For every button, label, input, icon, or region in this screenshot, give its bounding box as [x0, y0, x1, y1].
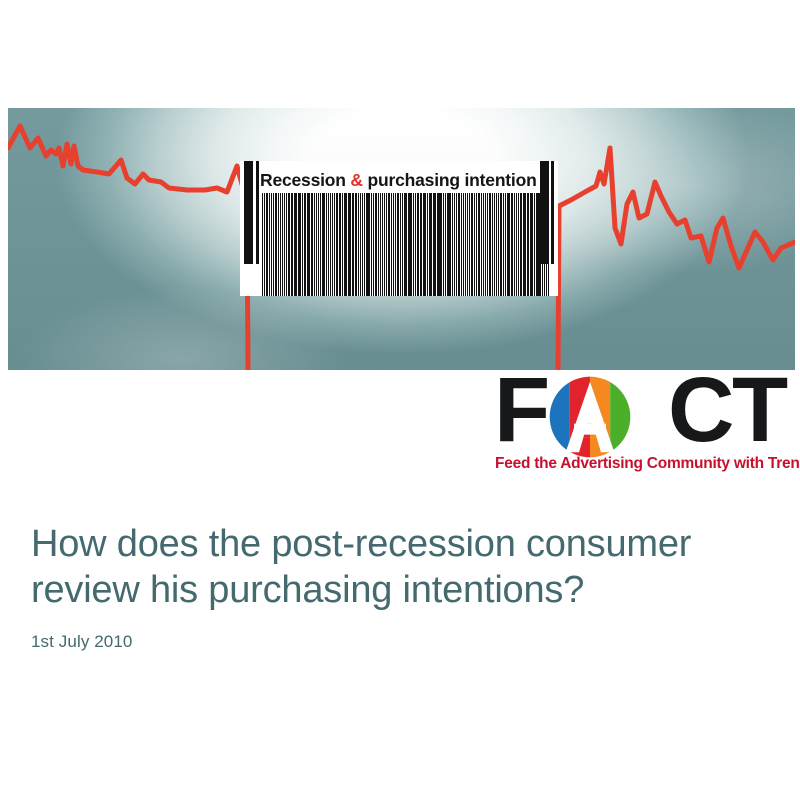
barcode-bar — [546, 193, 547, 296]
barcode-bar — [478, 193, 480, 296]
barcode-bar — [537, 193, 539, 296]
barcode-bar — [311, 193, 313, 296]
barcode-title-ampersand: & — [350, 170, 362, 190]
barcode-bar — [520, 193, 522, 296]
barcode-bar — [373, 193, 374, 296]
barcode-bar — [305, 193, 306, 296]
barcode-bar — [326, 193, 327, 296]
trend-line-right — [558, 148, 795, 370]
barcode-bar — [309, 193, 310, 296]
barcode-bar — [397, 193, 399, 296]
barcode-bar — [511, 193, 514, 296]
barcode-bar — [415, 193, 416, 296]
barcode-bar — [500, 193, 502, 296]
barcode-bar — [496, 193, 497, 296]
barcode-bar — [280, 193, 281, 296]
barcode-bar — [507, 193, 508, 296]
slide-canvas: Recession & purchasing intention F C T — [0, 0, 800, 800]
barcode-bar — [483, 193, 484, 296]
barcode-bar — [485, 193, 486, 296]
barcode-bar — [434, 193, 435, 296]
barcode-bar — [417, 193, 419, 296]
barcode-bar — [282, 193, 283, 296]
logo-a-segment-red — [570, 375, 590, 437]
barcode-bar — [386, 193, 387, 296]
barcode-bar — [288, 193, 290, 296]
barcode-bar — [402, 193, 403, 296]
barcode-bar — [498, 193, 499, 296]
barcode-bar — [408, 193, 409, 296]
title-block: How does the post-recession consumer rev… — [31, 521, 761, 653]
barcode-bar — [441, 193, 442, 296]
barcode-bar — [298, 193, 301, 296]
barcode-bar — [471, 193, 474, 296]
barcode-bar — [476, 193, 477, 296]
barcode-bar — [318, 193, 319, 296]
barcode-bar — [307, 193, 308, 296]
barcode-bar — [364, 193, 365, 296]
barcode-bar — [544, 193, 545, 296]
barcode-bar — [536, 193, 537, 296]
barcode-bar — [467, 193, 468, 296]
barcode-bar — [286, 193, 287, 296]
fact-logo: F C T — [492, 370, 795, 478]
barcode-bar — [433, 193, 434, 296]
barcode-bar — [530, 193, 533, 296]
page-title: How does the post-recession consumer rev… — [31, 521, 761, 613]
barcode-bar — [527, 193, 528, 296]
barcode-bar — [362, 193, 363, 296]
barcode-bar — [393, 193, 394, 296]
barcode-bar — [330, 193, 331, 296]
barcode-bar — [409, 193, 412, 296]
barcode-bar — [456, 193, 457, 296]
barcode-title-suffix: purchasing intention — [363, 170, 537, 190]
barcode-bar — [421, 193, 422, 296]
barcode-bar — [404, 193, 405, 296]
barcode-bar — [494, 193, 495, 296]
barcode-bar — [454, 193, 455, 296]
barcode-bar — [452, 193, 453, 296]
barcode-bar — [461, 193, 462, 296]
barcode-bar — [395, 193, 396, 296]
barcode-bar — [542, 193, 543, 296]
barcode-bar — [400, 193, 401, 296]
logo-letter-t: T — [732, 364, 786, 456]
barcode-bar — [292, 193, 293, 296]
barcode-bar — [481, 193, 482, 296]
barcode-bar — [516, 193, 517, 296]
barcode-bar — [443, 193, 444, 296]
barcode-bar — [487, 193, 488, 296]
barcode-bar — [296, 193, 297, 296]
barcode-bar — [508, 193, 509, 296]
page-title-line-2: review his purchasing intentions? — [31, 569, 584, 611]
barcode-bar — [316, 193, 317, 296]
barcode-bar — [273, 193, 274, 296]
barcode-bar — [420, 193, 421, 296]
barcode-bar — [340, 193, 341, 296]
barcode-bar — [314, 193, 315, 296]
barcode-bar — [352, 193, 353, 296]
barcode-bar — [355, 193, 357, 296]
logo-a-segment-orange — [590, 375, 610, 437]
barcode-bar — [489, 193, 492, 296]
barcode-bar — [358, 193, 359, 296]
logo-letter-a-graphic — [548, 375, 632, 459]
barcode-bar — [534, 193, 535, 296]
barcode-bar — [505, 193, 506, 296]
barcode-graphic: Recession & purchasing intention — [240, 161, 558, 296]
barcode-bar — [382, 193, 383, 296]
barcode-bar — [284, 193, 285, 296]
barcode-bar — [518, 193, 519, 296]
barcode-bar — [262, 193, 263, 296]
barcode-bar — [291, 193, 292, 296]
barcode-bar — [413, 193, 414, 296]
barcode-bar — [320, 193, 321, 296]
barcode-bar — [450, 193, 451, 296]
barcode-title-text: Recession & purchasing intention — [260, 166, 540, 194]
barcode-bar — [447, 193, 450, 296]
barcode-bar — [503, 193, 504, 296]
logo-a-segment-green — [610, 375, 632, 459]
barcode-bar — [339, 193, 340, 296]
barcode-bar — [405, 193, 406, 296]
slide-date: 1st July 2010 — [31, 631, 761, 653]
trend-line-left — [8, 126, 248, 370]
barcode-bar — [269, 193, 270, 296]
barcode-bar — [266, 193, 268, 296]
barcode-bar — [336, 193, 338, 296]
barcode-bar — [334, 193, 335, 296]
logo-letter-c: C — [668, 364, 732, 456]
barcode-bar — [369, 193, 370, 296]
barcode-bar — [332, 193, 333, 296]
barcode-bar — [375, 193, 377, 296]
barcode-bar — [344, 193, 347, 296]
barcode-bar — [425, 193, 426, 296]
barcode-bar — [465, 193, 466, 296]
barcode-bar — [445, 193, 446, 296]
barcode-bar — [371, 193, 372, 296]
barcode-bar — [523, 193, 524, 296]
barcode-bar — [514, 193, 515, 296]
barcode-bar — [474, 193, 475, 296]
barcode-bar — [437, 193, 438, 296]
barcode-bar — [322, 193, 325, 296]
barcode-bar — [528, 193, 529, 296]
barcode-bar — [304, 193, 305, 296]
fact-logo-tagline: Feed the Advertising Community with Tren… — [495, 454, 795, 474]
logo-letter-f: F — [494, 364, 548, 456]
logo-a-segment-blue — [548, 375, 570, 459]
barcode-title-prefix: Recession — [260, 170, 350, 190]
barcode-bar — [540, 193, 541, 296]
barcode-bar — [342, 193, 343, 296]
barcode-bar — [524, 193, 525, 296]
barcode-bar — [423, 193, 424, 296]
barcode-bar — [353, 193, 354, 296]
barcode-bar — [548, 193, 549, 296]
fact-logo-wordmark: F C T — [492, 370, 795, 452]
barcode-bar — [349, 193, 350, 296]
barcode-bar — [378, 193, 379, 296]
barcode-bar — [458, 193, 460, 296]
barcode-bar — [271, 193, 272, 296]
barcode-bar — [463, 193, 464, 296]
barcode-bar — [275, 193, 278, 296]
barcode-bar — [294, 193, 295, 296]
barcode-bar — [469, 193, 470, 296]
barcode-bar — [366, 193, 369, 296]
barcode-bar — [438, 193, 440, 296]
barcode-bar — [278, 193, 279, 296]
barcode-bar — [391, 193, 392, 296]
barcode-bar — [380, 193, 381, 296]
barcode-bar — [348, 193, 349, 296]
recession-banner-image: Recession & purchasing intention — [8, 108, 795, 370]
barcode-bar — [427, 193, 428, 296]
page-title-line-1: How does the post-recession consumer — [31, 523, 691, 565]
barcode-bar — [388, 193, 391, 296]
barcode-bar — [264, 193, 265, 296]
barcode-bar — [302, 193, 303, 296]
barcode-bar — [360, 193, 361, 296]
barcode-bar — [429, 193, 432, 296]
barcode-bars — [240, 193, 558, 296]
barcode-bar — [328, 193, 329, 296]
barcode-bar — [492, 193, 493, 296]
barcode-bar — [384, 193, 385, 296]
